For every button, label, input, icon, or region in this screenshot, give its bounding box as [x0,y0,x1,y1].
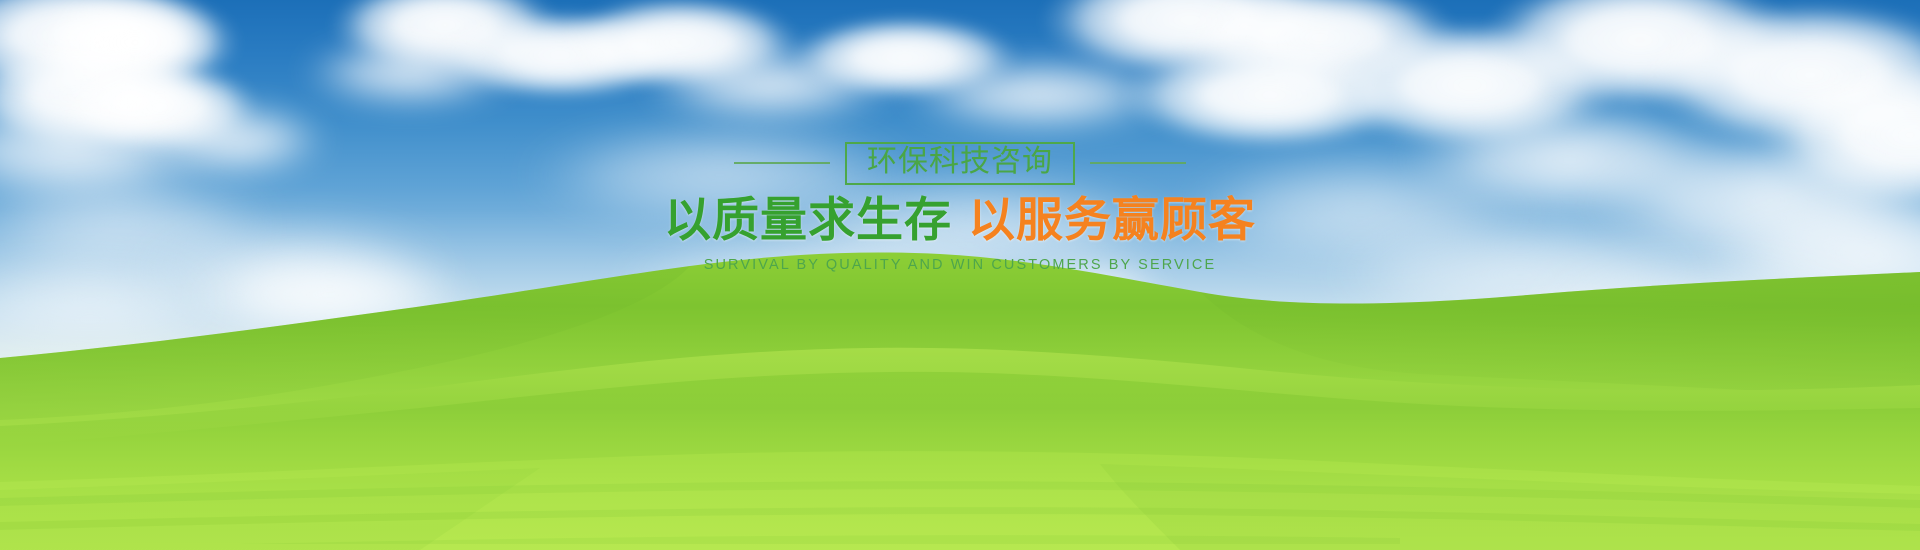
headline-part-orange: 以服务赢顾客 [968,193,1256,248]
grass-hills [0,250,1920,550]
decorative-rule-right [1090,162,1186,164]
eyebrow-row: 环保科技咨询 [0,140,1920,186]
headline-part-green: 以质量求生存 [664,193,952,248]
eyebrow-label: 环保科技咨询 [867,147,1053,177]
hills-svg [0,250,1920,550]
headline: 以质量求生存以服务赢顾客 [0,196,1920,247]
eyebrow-box: 环保科技咨询 [845,142,1075,185]
decorative-rule-left [734,162,830,164]
banner-copy: 环保科技咨询 以质量求生存以服务赢顾客 SURVIVAL BY QUALITY … [0,140,1920,273]
headline-subtitle: SURVIVAL BY QUALITY AND WIN CUSTOMERS BY… [0,257,1920,273]
hero-banner: 环保科技咨询 以质量求生存以服务赢顾客 SURVIVAL BY QUALITY … [0,0,1920,550]
